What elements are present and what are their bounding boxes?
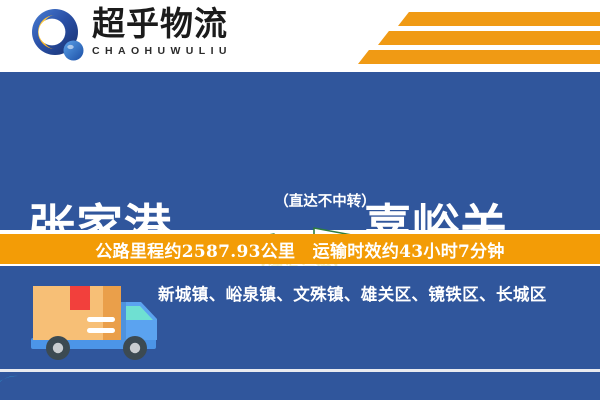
service-areas-text: 新城镇、峪泉镇、文殊镇、雄关区、镜铁区、长城区 (158, 281, 547, 305)
header-stripe-3 (358, 50, 600, 64)
brand-name-cn: 超乎物流 (92, 6, 272, 42)
brand-name-en: CHAOHUWULIU (92, 45, 272, 57)
service-areas-panel: 新城镇、峪泉镇、文殊镇、雄关区、镜铁区、长城区 (0, 266, 600, 400)
delivery-truck-icon (25, 276, 165, 368)
distance-bar: 公路里程约2587.93公里 运输时效约43小时7分钟 (0, 234, 600, 264)
brand-text-block: 超乎物流 CHAOHUWULIU (92, 6, 272, 57)
distance-and-duration-text: 公路里程约2587.93公里 运输时效约43小时7分钟 (95, 237, 504, 262)
header-bar: 超乎物流 CHAOHUWULIU (0, 0, 600, 68)
brand-logo-icon (31, 8, 85, 62)
header-stripe-1 (398, 12, 600, 26)
logistics-route-poster: 超乎物流 CHAOHUWULIU 张家港 （直达不中转） 【往返运输】 嘉峪关 … (0, 0, 600, 400)
corner-swoosh-decoration (0, 370, 46, 400)
road-line (0, 369, 600, 372)
route-panel: 张家港 （直达不中转） 【往返运输】 嘉峪关 (0, 72, 600, 230)
header-stripe-2 (378, 31, 600, 45)
